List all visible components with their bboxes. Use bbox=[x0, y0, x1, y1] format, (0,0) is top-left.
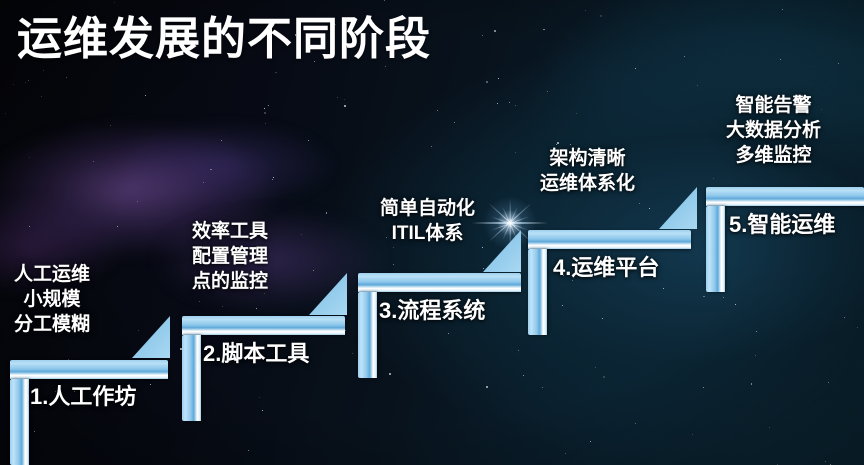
step-2[interactable] bbox=[182, 316, 347, 421]
step-5-desc-line-2: 大数据分析 bbox=[726, 118, 821, 143]
step-2-bar bbox=[182, 316, 345, 335]
step-3-leg bbox=[358, 292, 377, 378]
step-5-description: 智能告警 大数据分析 多维监控 bbox=[726, 93, 821, 168]
step-4-description: 架构清晰 运维体系化 bbox=[540, 146, 635, 196]
step-1-description: 人工运维 小规模 分工模糊 bbox=[14, 262, 90, 337]
step-1-desc-line-2: 小规模 bbox=[14, 287, 90, 312]
step-1-bar bbox=[10, 360, 168, 379]
step-2-description: 效率工具 配置管理 点的监控 bbox=[192, 219, 268, 294]
step-4[interactable] bbox=[528, 230, 693, 335]
step-3-label: 3.流程系统 bbox=[379, 293, 485, 325]
step-2-desc-line-2: 配置管理 bbox=[192, 244, 268, 269]
slide-canvas: 运维发展的不同阶段 1.人工作坊 人工运维 小规模 分工模糊 2.脚本工具 效率… bbox=[0, 0, 864, 465]
step-5-desc-line-3: 多维监控 bbox=[726, 143, 821, 168]
step-1-desc-line-3: 分工模糊 bbox=[14, 312, 90, 337]
step-2-leg bbox=[182, 335, 201, 421]
step-1-label: 1.人工作坊 bbox=[30, 379, 136, 411]
step-5-desc-line-1: 智能告警 bbox=[726, 93, 821, 118]
step-1-leg bbox=[10, 379, 29, 465]
step-3-bar bbox=[358, 273, 521, 292]
step-4-desc-line-2: 运维体系化 bbox=[540, 171, 635, 196]
step-1-desc-line-1: 人工运维 bbox=[14, 262, 90, 287]
step-2-label: 2.脚本工具 bbox=[203, 336, 309, 368]
step-3-desc-line-2: ITIL体系 bbox=[380, 221, 475, 246]
step-5-leg bbox=[706, 206, 725, 292]
step-3-description: 简单自动化 ITIL体系 bbox=[380, 196, 475, 246]
step-5-bar bbox=[706, 187, 864, 206]
step-2-desc-line-3: 点的监控 bbox=[192, 269, 268, 294]
step-1[interactable] bbox=[10, 360, 170, 465]
page-title: 运维发展的不同阶段 bbox=[17, 14, 431, 64]
step-4-leg bbox=[528, 249, 547, 335]
step-5-label: 5.智能运维 bbox=[729, 207, 835, 239]
step-5[interactable] bbox=[706, 187, 864, 292]
step-4-bar bbox=[528, 230, 691, 249]
step-2-desc-line-1: 效率工具 bbox=[192, 219, 268, 244]
step-3[interactable] bbox=[358, 273, 523, 378]
step-3-desc-line-1: 简单自动化 bbox=[380, 196, 475, 221]
step-4-label: 4.运维平台 bbox=[553, 250, 659, 282]
step-4-desc-line-1: 架构清晰 bbox=[540, 146, 635, 171]
